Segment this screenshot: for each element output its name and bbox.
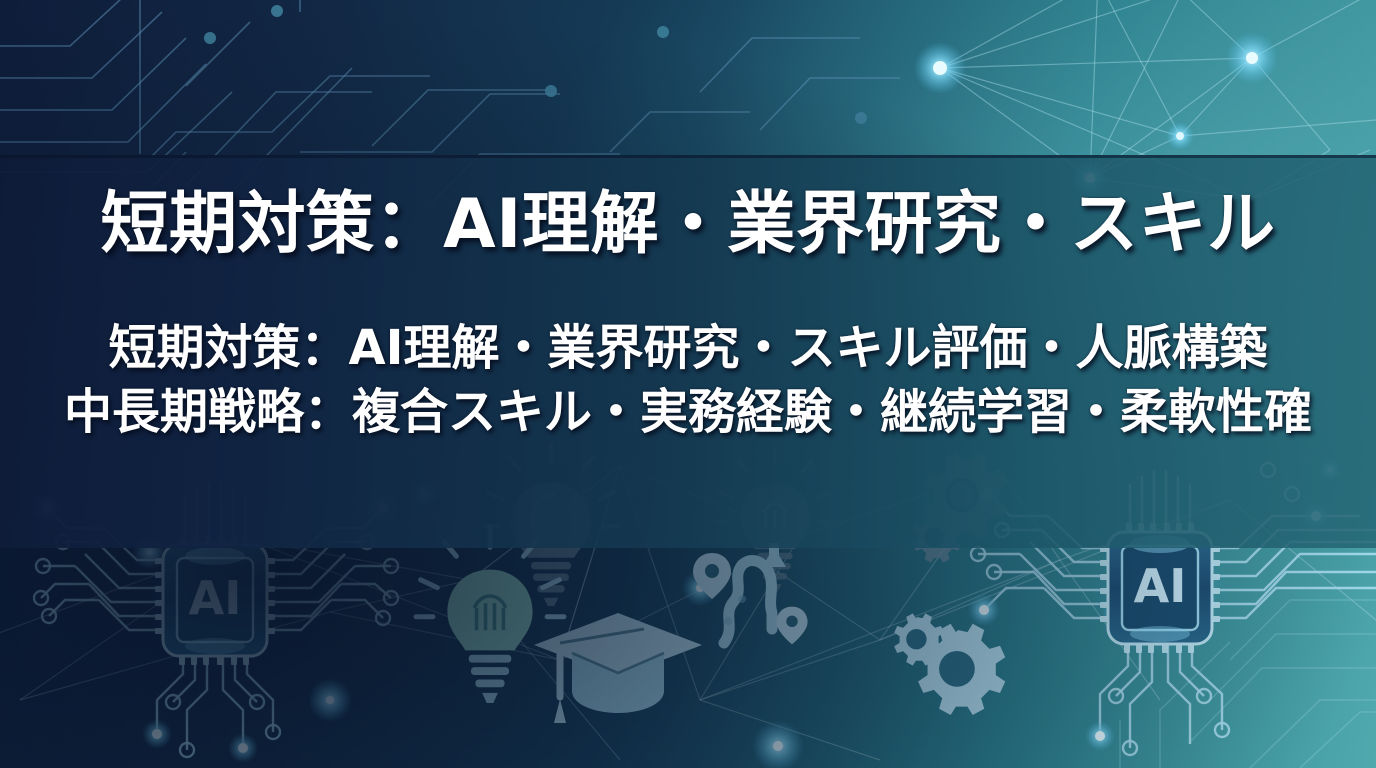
subtitle-line-1: 短期対策：AI理解・業界研究・スキル評価・人脈構築 [0,319,1376,378]
page-title: 短期対策：AI理解・業界研究・スキル [0,187,1376,263]
slide-canvas: AI [0,0,1376,768]
text-block: 短期対策：AI理解・業界研究・スキル 短期対策：AI理解・業界研究・スキル評価・… [0,155,1376,548]
subtitle-line-2: 中長期戦略：複合スキル・実務経験・継続学習・柔軟性確 [0,383,1376,442]
